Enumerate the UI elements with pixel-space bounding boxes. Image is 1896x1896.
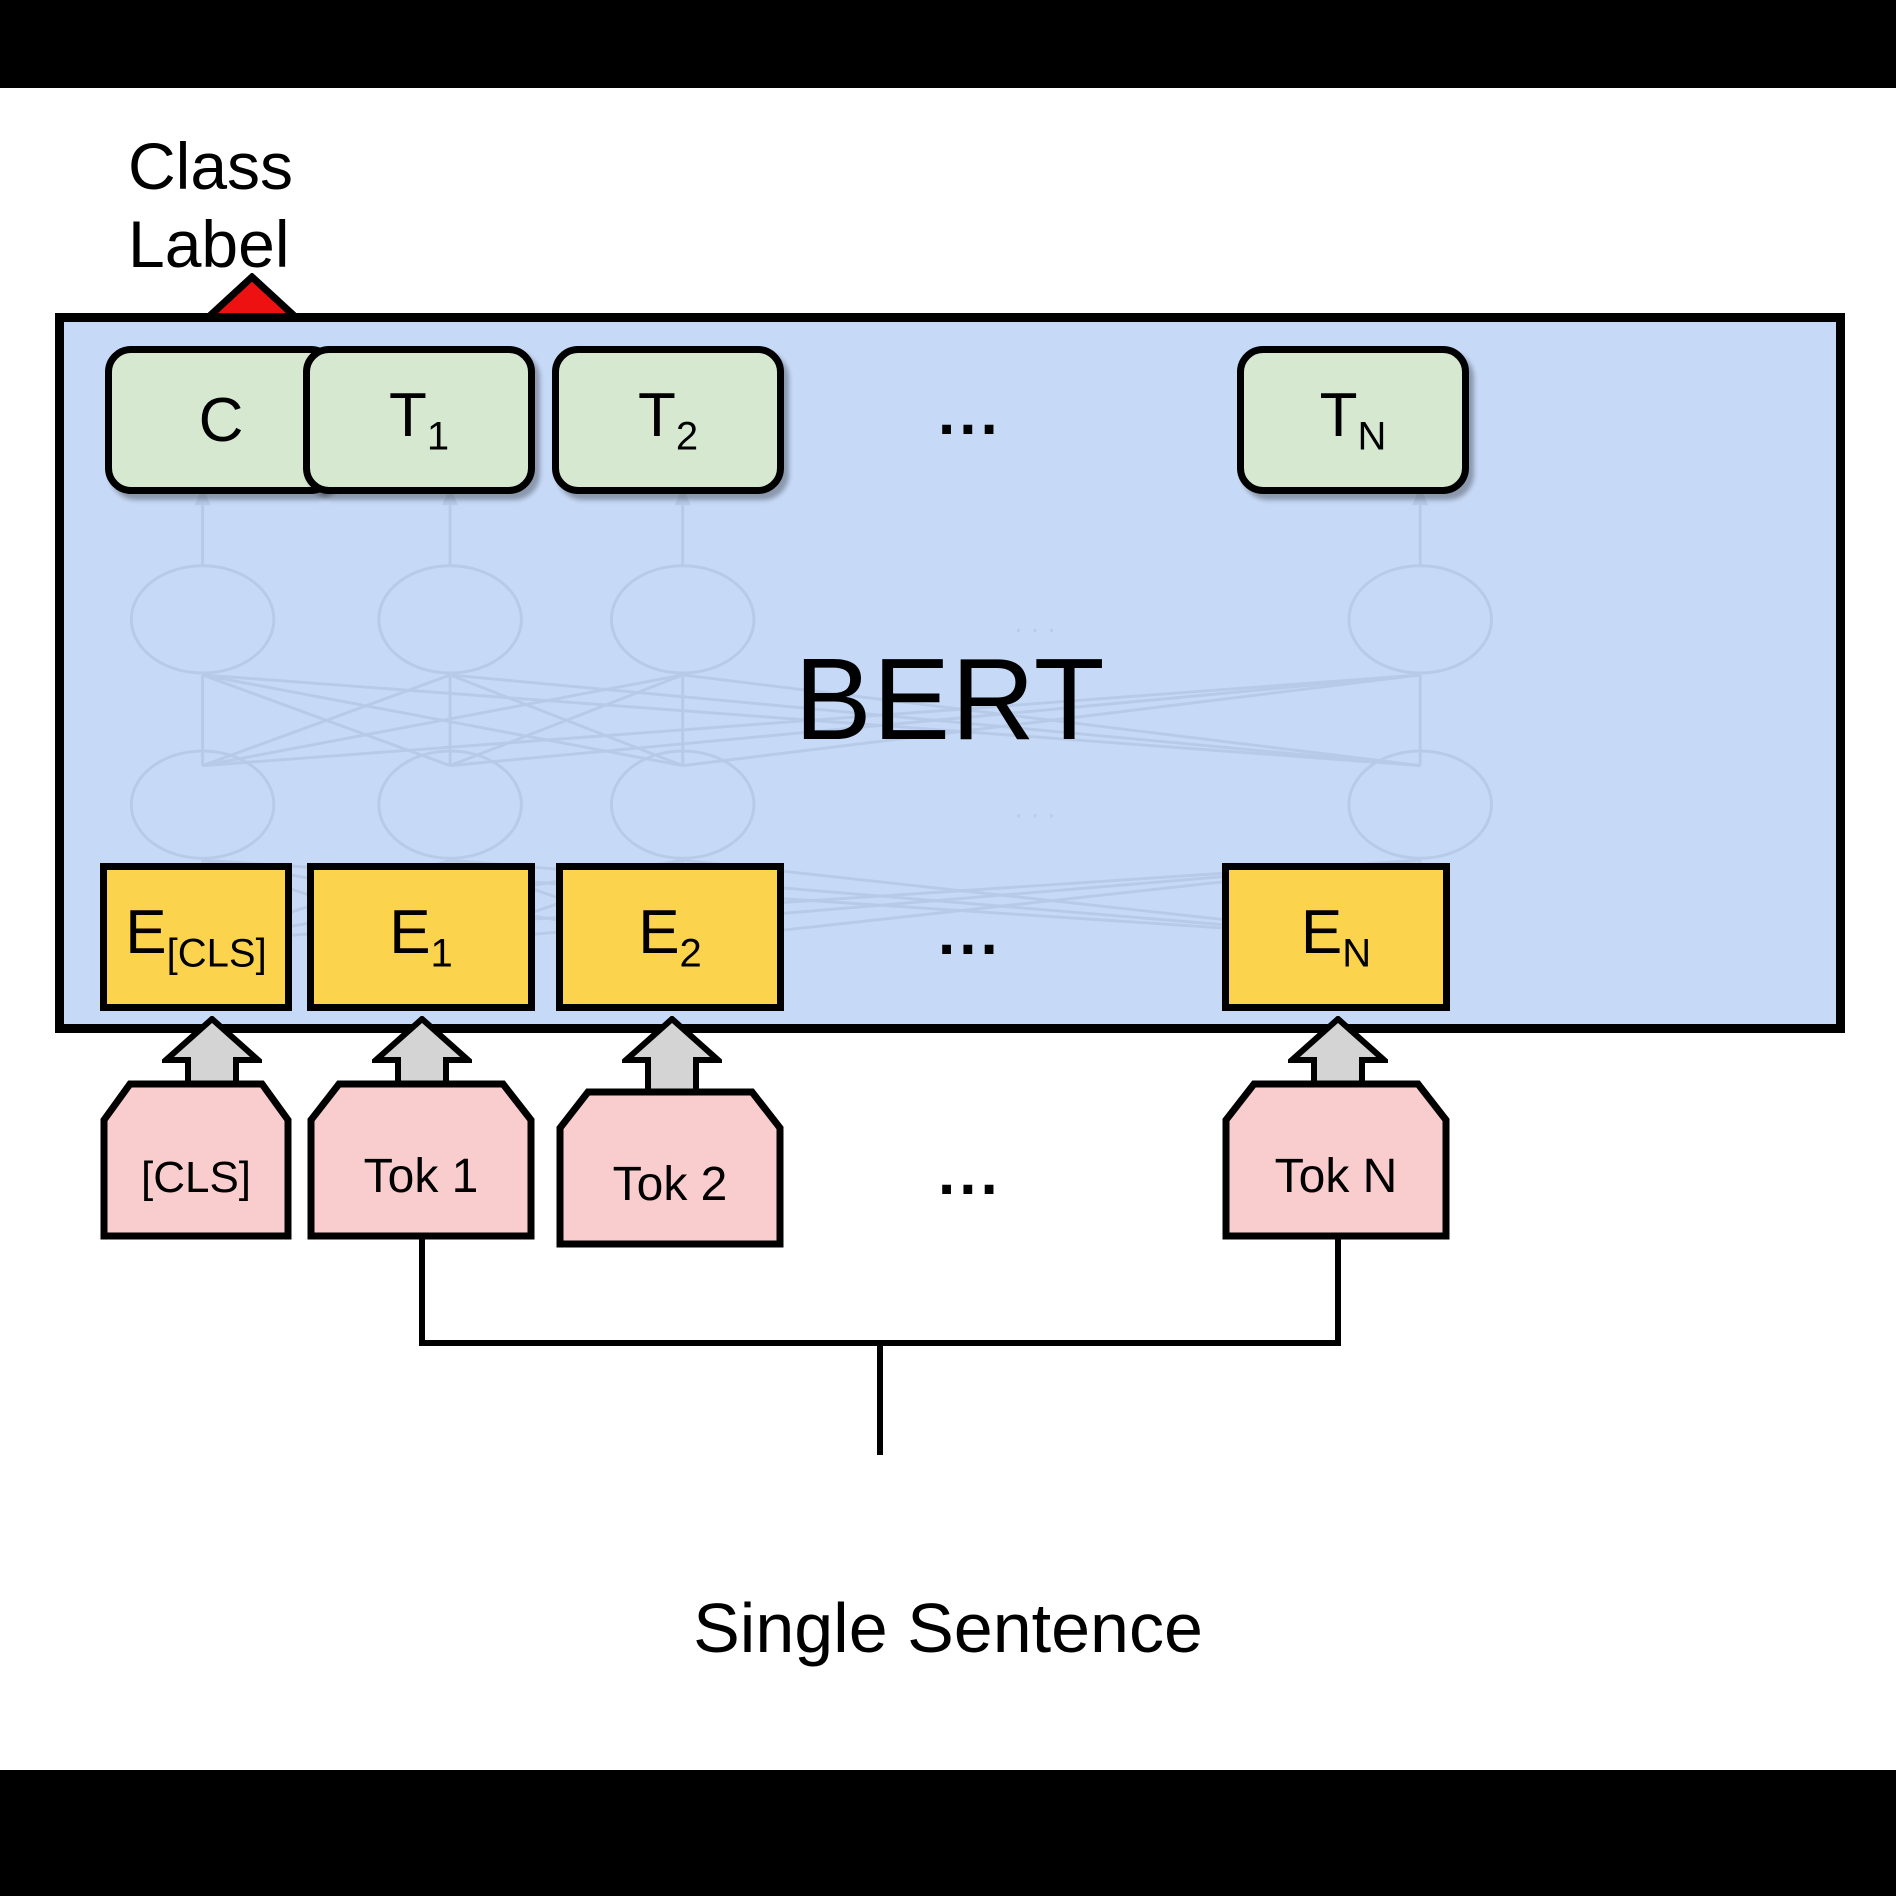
class-label-text: Class Label <box>128 128 448 284</box>
bert-title: BERT <box>64 632 1836 766</box>
token-row-ellipsis: ... <box>938 1138 1002 1209</box>
white-canvas: Class Label <box>0 88 1896 1770</box>
embedding-row-ellipsis: ... <box>938 898 1002 969</box>
svg-text:. . .: . . . <box>1014 791 1055 824</box>
sentence-bracket <box>400 1233 1360 1483</box>
figure-canvas: Class Label <box>0 0 1896 1896</box>
gray-up-arrow-icon <box>622 1016 722 1114</box>
embedding-cls[interactable]: E[CLS] <box>100 863 292 1011</box>
output-tn[interactable]: TN <box>1237 346 1469 494</box>
token-n-label: Tok N <box>1275 1150 1398 1203</box>
output-t1-label: T1 <box>389 380 449 459</box>
output-c-label: C <box>199 385 244 456</box>
token-2-label: Tok 2 <box>613 1158 728 1211</box>
token-1-label: Tok 1 <box>364 1150 479 1203</box>
single-sentence-label: Single Sentence <box>0 1588 1896 1668</box>
embedding-2-label: E2 <box>638 897 702 976</box>
output-row-ellipsis: ... <box>938 378 1002 449</box>
embedding-cls-label: E[CLS] <box>125 897 266 976</box>
output-t2-label: T2 <box>638 380 698 459</box>
gray-up-arrow-icon <box>372 1016 472 1114</box>
embedding-1[interactable]: E1 <box>307 863 535 1011</box>
gray-up-arrow-icon <box>1288 1016 1388 1114</box>
gray-up-arrow-icon <box>162 1016 262 1114</box>
embedding-2[interactable]: E2 <box>556 863 784 1011</box>
embedding-1-label: E1 <box>389 897 453 976</box>
output-t2[interactable]: T2 <box>552 346 784 494</box>
embedding-n[interactable]: EN <box>1222 863 1450 1011</box>
embedding-n-label: EN <box>1301 897 1371 976</box>
output-t1[interactable]: T1 <box>303 346 535 494</box>
token-cls-label: [CLS] <box>141 1153 251 1202</box>
output-tn-label: TN <box>1320 380 1387 459</box>
